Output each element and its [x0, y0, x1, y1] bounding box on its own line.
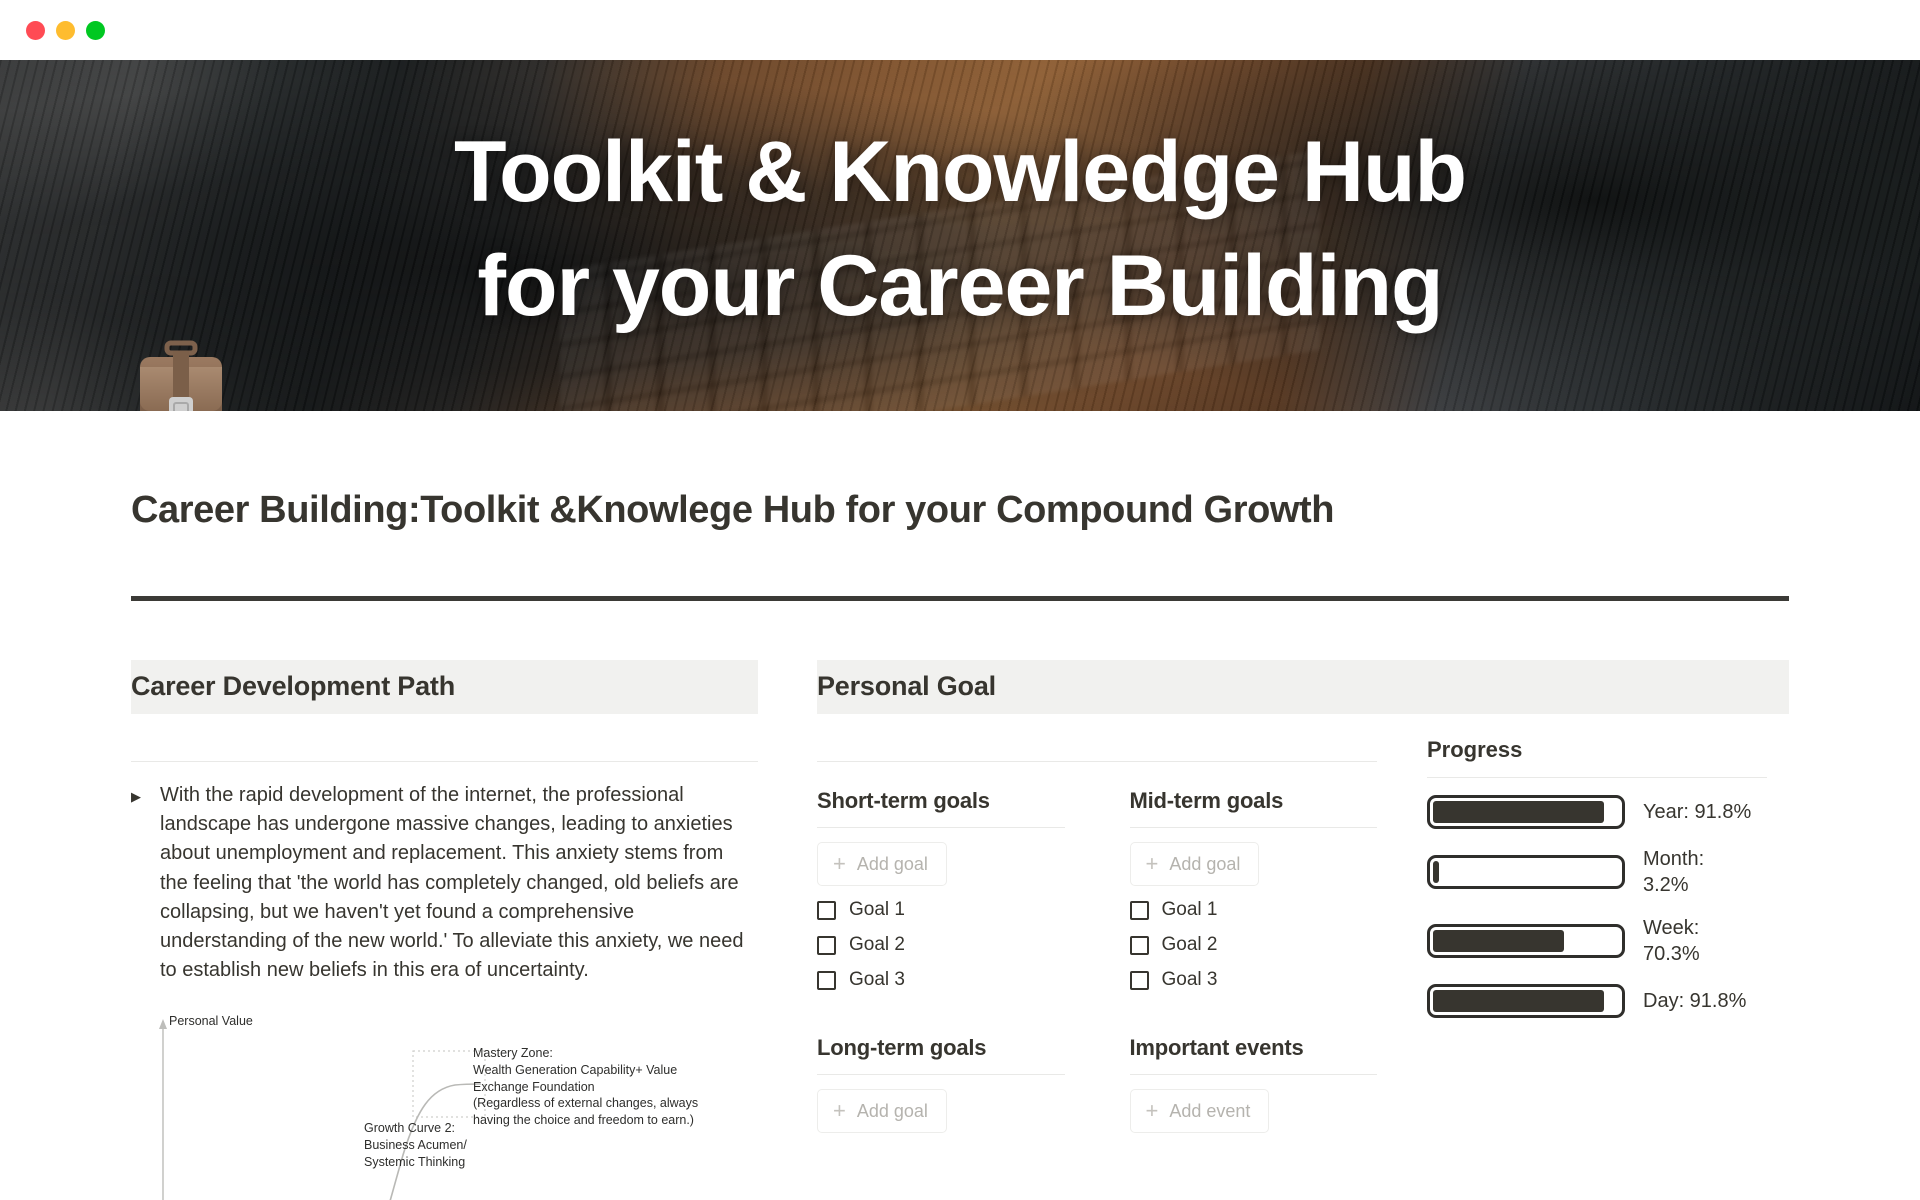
progress-row-day: Day: 91.8% [1427, 984, 1767, 1018]
personal-goal-column: Personal Goal Short-term goals + Add goa… [817, 660, 1789, 1133]
briefcase-icon[interactable] [131, 337, 231, 411]
chevron-right-icon[interactable]: ▶ [131, 781, 145, 985]
y-axis-arrow [159, 1019, 167, 1029]
checkbox-icon[interactable] [817, 971, 836, 990]
close-window-button[interactable] [26, 21, 45, 40]
goal-list-item[interactable]: Goal 1 [817, 899, 1065, 921]
goal-item-label: Goal 3 [849, 969, 905, 991]
goal-block-title: Mid-term goals [1130, 788, 1378, 814]
add-goal-button-short-term[interactable]: + Add goal [817, 842, 947, 886]
goal-list-item[interactable]: Goal 2 [1130, 934, 1378, 956]
checkbox-icon[interactable] [1130, 936, 1149, 955]
progress-row-year: Year: 91.8% [1427, 795, 1767, 829]
goal-item-label: Goal 1 [1162, 899, 1218, 921]
personal-goal-content: Short-term goals + Add goal Goal 1 [817, 714, 1789, 1133]
window-titlebar [0, 0, 1920, 60]
plus-icon: + [1146, 1100, 1159, 1122]
progress-bar-week [1427, 924, 1625, 958]
minimize-window-button[interactable] [56, 21, 75, 40]
progress-bar-fill [1433, 930, 1564, 952]
goals-area: Short-term goals + Add goal Goal 1 [817, 714, 1377, 1133]
hero-banner: Toolkit & Knowledge Hub for your Career … [0, 60, 1920, 411]
goal-block-rule [1130, 1074, 1378, 1075]
add-goal-label: Add goal [857, 1101, 928, 1122]
goal-block-rule [817, 1074, 1065, 1075]
checkbox-icon[interactable] [1130, 901, 1149, 920]
goal-block-mid-term: Mid-term goals + Add goal Goal 1 [1130, 788, 1378, 991]
checkbox-icon[interactable] [817, 901, 836, 920]
goal-block-rule [1130, 827, 1378, 828]
page-divider [131, 596, 1789, 601]
goal-item-label: Goal 1 [849, 899, 905, 921]
add-goal-button-mid-term[interactable]: + Add goal [1130, 842, 1260, 886]
goals-divider [817, 761, 1377, 762]
diagram-y-axis-label: Personal Value [169, 1015, 253, 1030]
page-title: Career Building:Toolkit &Knowlege Hub fo… [131, 489, 1920, 532]
add-event-label: Add event [1169, 1101, 1250, 1122]
career-growth-diagram: Personal Value Mastery Zone: Wealth Gene… [131, 1015, 758, 1200]
goal-list-item[interactable]: Goal 3 [1130, 969, 1378, 991]
progress-rule [1427, 777, 1767, 778]
section-header-career-development: Career Development Path [131, 660, 758, 714]
goal-item-label: Goal 2 [849, 934, 905, 956]
hero-title: Toolkit & Knowledge Hub for your Career … [0, 116, 1920, 343]
add-event-button[interactable]: + Add event [1130, 1089, 1270, 1133]
add-goal-label: Add goal [1169, 854, 1240, 875]
add-goal-label: Add goal [857, 854, 928, 875]
page-body: Career Building:Toolkit &Knowlege Hub fo… [0, 489, 1920, 1200]
content-columns: Career Development Path ▶ With the rapid… [131, 660, 1789, 1200]
maximize-window-button[interactable] [86, 21, 105, 40]
goal-block-title: Important events [1130, 1035, 1378, 1061]
diagram-growth-curve-2-label: Growth Curve 2: Business Acumen/ Systemi… [364, 1120, 467, 1170]
checkbox-icon[interactable] [1130, 971, 1149, 990]
checkbox-icon[interactable] [817, 936, 836, 955]
plus-icon: + [833, 1100, 846, 1122]
add-goal-button-long-term[interactable]: + Add goal [817, 1089, 947, 1133]
progress-bar-fill [1433, 861, 1439, 883]
progress-bar-year [1427, 795, 1625, 829]
goal-list-item[interactable]: Goal 3 [817, 969, 1065, 991]
progress-bar-fill [1433, 990, 1604, 1012]
progress-title: Progress [1427, 737, 1767, 763]
toggle-divider [131, 761, 758, 762]
progress-bar-day [1427, 984, 1625, 1018]
goal-block-rule [817, 827, 1065, 828]
goal-block-title: Long-term goals [817, 1035, 1065, 1061]
goal-block-long-term: Long-term goals + Add goal [817, 1035, 1065, 1133]
goal-block-short-term: Short-term goals + Add goal Goal 1 [817, 788, 1065, 991]
goal-block-important-events: Important events + Add event [1130, 1035, 1378, 1133]
toggle-paragraph: With the rapid development of the intern… [160, 781, 748, 985]
goal-block-title: Short-term goals [817, 788, 1065, 814]
goal-list-item[interactable]: Goal 1 [1130, 899, 1378, 921]
goals-grid: Short-term goals + Add goal Goal 1 [817, 788, 1377, 1133]
toggle-block[interactable]: ▶ With the rapid development of the inte… [131, 781, 748, 985]
goal-list-item[interactable]: Goal 2 [817, 934, 1065, 956]
progress-row-week: Week: 70.3% [1427, 915, 1767, 967]
progress-row-month: Month: 3.2% [1427, 846, 1767, 898]
diagram-mastery-zone-label: Mastery Zone: Wealth Generation Capabili… [473, 1045, 723, 1128]
section-header-personal-goal: Personal Goal [817, 660, 1789, 714]
progress-label-month: Month: 3.2% [1643, 846, 1753, 898]
progress-bar-month [1427, 855, 1625, 889]
progress-bar-fill [1433, 801, 1604, 823]
progress-label-year: Year: 91.8% [1643, 799, 1751, 825]
plus-icon: + [1146, 853, 1159, 875]
progress-label-week: Week: 70.3% [1643, 915, 1753, 967]
career-development-column: Career Development Path ▶ With the rapid… [131, 660, 758, 1200]
progress-label-day: Day: 91.8% [1643, 988, 1746, 1014]
plus-icon: + [833, 853, 846, 875]
goal-item-label: Goal 2 [1162, 934, 1218, 956]
goal-item-label: Goal 3 [1162, 969, 1218, 991]
progress-panel: Progress Year: 91.8% Month: 3.2% [1427, 714, 1767, 1133]
